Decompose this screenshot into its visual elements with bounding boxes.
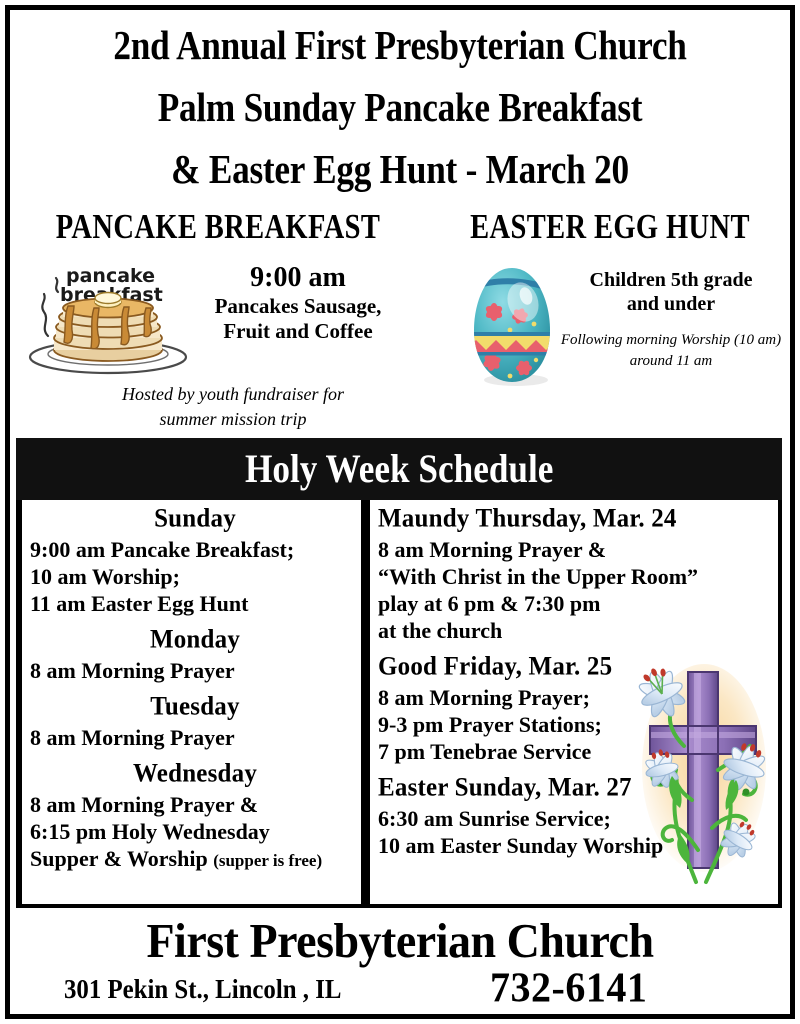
pancake-breakfast-section: PANCAKE BREAKFAST pancake breakfast [16,208,420,406]
egg-section-heading: EASTER EGG HUNT [450,208,770,246]
egg-timing-line-2: around 11 am [558,351,784,372]
day-entry: 8 am Morning Prayer & [30,791,360,818]
title-line-3: & Easter Egg Hunt - March 20 [73,138,727,200]
supper-free-note: (supper is free) [213,851,322,870]
schedule-day-sunday: Sunday 9:00 am Pancake Breakfast; 10 am … [30,502,360,617]
day-entry-with-note: Supper & Worship (supper is free) [30,845,360,874]
church-name: First Presbyterian Church [16,915,784,968]
schedule-day-monday: Monday 8 am Morning Prayer [30,623,360,684]
day-entry: 6:15 pm Holy Wednesday [30,818,360,845]
footer-contact-row: 301 Pekin St., Lincoln , IL 732-6141 [16,966,784,1010]
day-entry: 7 pm Tenebrae Service [378,738,778,765]
day-heading: Good Friday, Mar. 25 [378,649,778,685]
egg-section-body: Children 5th grade and under Following m… [436,256,784,406]
day-entry: 9-3 pm Prayer Stations; [378,711,778,738]
schedule-right-column: Maundy Thursday, Mar. 24 8 am Morning Pr… [378,502,778,865]
holy-week-schedule: Holy Week Schedule Sunday 9:00 am Pancak… [16,438,782,908]
hosted-line-1: Hosted by youth fundraiser for [68,382,398,407]
title-line-1: 2nd Annual First Presbyterian Church [73,14,727,76]
pancake-section-body: pancake breakfast [16,256,420,406]
flyer-footer: First Presbyterian Church 301 Pekin St.,… [16,916,784,1012]
event-sections: PANCAKE BREAKFAST pancake breakfast [16,208,784,438]
day-entry: 9:00 am Pancake Breakfast; [30,536,360,563]
schedule-day-good-friday: Good Friday, Mar. 25 8 am Morning Prayer… [378,650,778,765]
day-entry: play at 6 pm & 7:30 pm [378,590,778,617]
pancake-menu-line-2: Fruit and Coffee [176,319,420,344]
day-heading: Tuesday [30,689,360,725]
day-entry: 8 am Morning Prayer; [378,684,778,711]
schedule-day-wednesday: Wednesday 8 am Morning Prayer & 6:15 pm … [30,757,360,874]
day-entry: 8 am Morning Prayer [30,657,360,684]
schedule-day-maundy-thursday: Maundy Thursday, Mar. 24 8 am Morning Pr… [378,502,778,644]
day-heading: Maundy Thursday, Mar. 24 [378,501,778,537]
egg-timing: Following morning Worship (10 am) around… [558,330,784,372]
egg-timing-line-1: Following morning Worship (10 am) [558,330,784,351]
schedule-day-easter-sunday: Easter Sunday, Mar. 27 6:30 am Sunrise S… [378,771,778,859]
day-entry-main: Supper & Worship [30,846,213,871]
day-entry: 8 am Morning Prayer & [378,536,778,563]
church-phone: 732-6141 [490,965,647,1011]
day-heading: Wednesday [30,756,360,792]
egg-audience-line-2: and under [558,292,784,316]
day-entry: “With Christ in the Upper Room” [378,563,778,590]
pancake-section-heading: PANCAKE BREAKFAST [32,208,404,246]
day-entry: 6:30 am Sunrise Service; [378,805,778,832]
day-heading: Monday [30,622,360,658]
pancake-stack-icon: pancake breakfast [20,258,190,376]
easter-egg-icon [466,264,558,388]
day-entry: 10 am Easter Sunday Worship [378,832,778,859]
schedule-body: Sunday 9:00 am Pancake Breakfast; 10 am … [16,500,782,908]
flyer-title: 2nd Annual First Presbyterian Church Pal… [20,14,780,200]
flyer-page: 2nd Annual First Presbyterian Church Pal… [0,0,800,1024]
church-address: 301 Pekin St., Lincoln , IL [64,972,341,1006]
pancake-menu-line-1: Pancakes Sausage, [176,294,420,319]
pancake-details: 9:00 am Pancakes Sausage, Fruit and Coff… [176,262,420,344]
day-entry: 8 am Morning Prayer [30,724,360,751]
day-heading: Easter Sunday, Mar. 27 [378,770,778,806]
egg-details: Children 5th grade and under Following m… [558,268,784,372]
schedule-header-banner: Holy Week Schedule [16,438,782,500]
pancake-hosted-note: Hosted by youth fundraiser for summer mi… [68,382,398,432]
day-entry: 11 am Easter Egg Hunt [30,590,360,617]
day-entry: at the church [378,617,778,644]
egg-audience-line-1: Children 5th grade [558,268,784,292]
title-line-2: Palm Sunday Pancake Breakfast [73,76,727,138]
day-heading: Sunday [30,501,360,537]
schedule-header-title: Holy Week Schedule [245,447,553,491]
schedule-column-divider [361,500,370,904]
pancake-time: 9:00 am [176,262,420,294]
schedule-day-tuesday: Tuesday 8 am Morning Prayer [30,690,360,751]
easter-egg-hunt-section: EASTER EGG HUNT [436,208,784,406]
hosted-line-2: summer mission trip [68,407,398,432]
day-entry: 10 am Worship; [30,563,360,590]
schedule-left-column: Sunday 9:00 am Pancake Breakfast; 10 am … [30,502,360,880]
